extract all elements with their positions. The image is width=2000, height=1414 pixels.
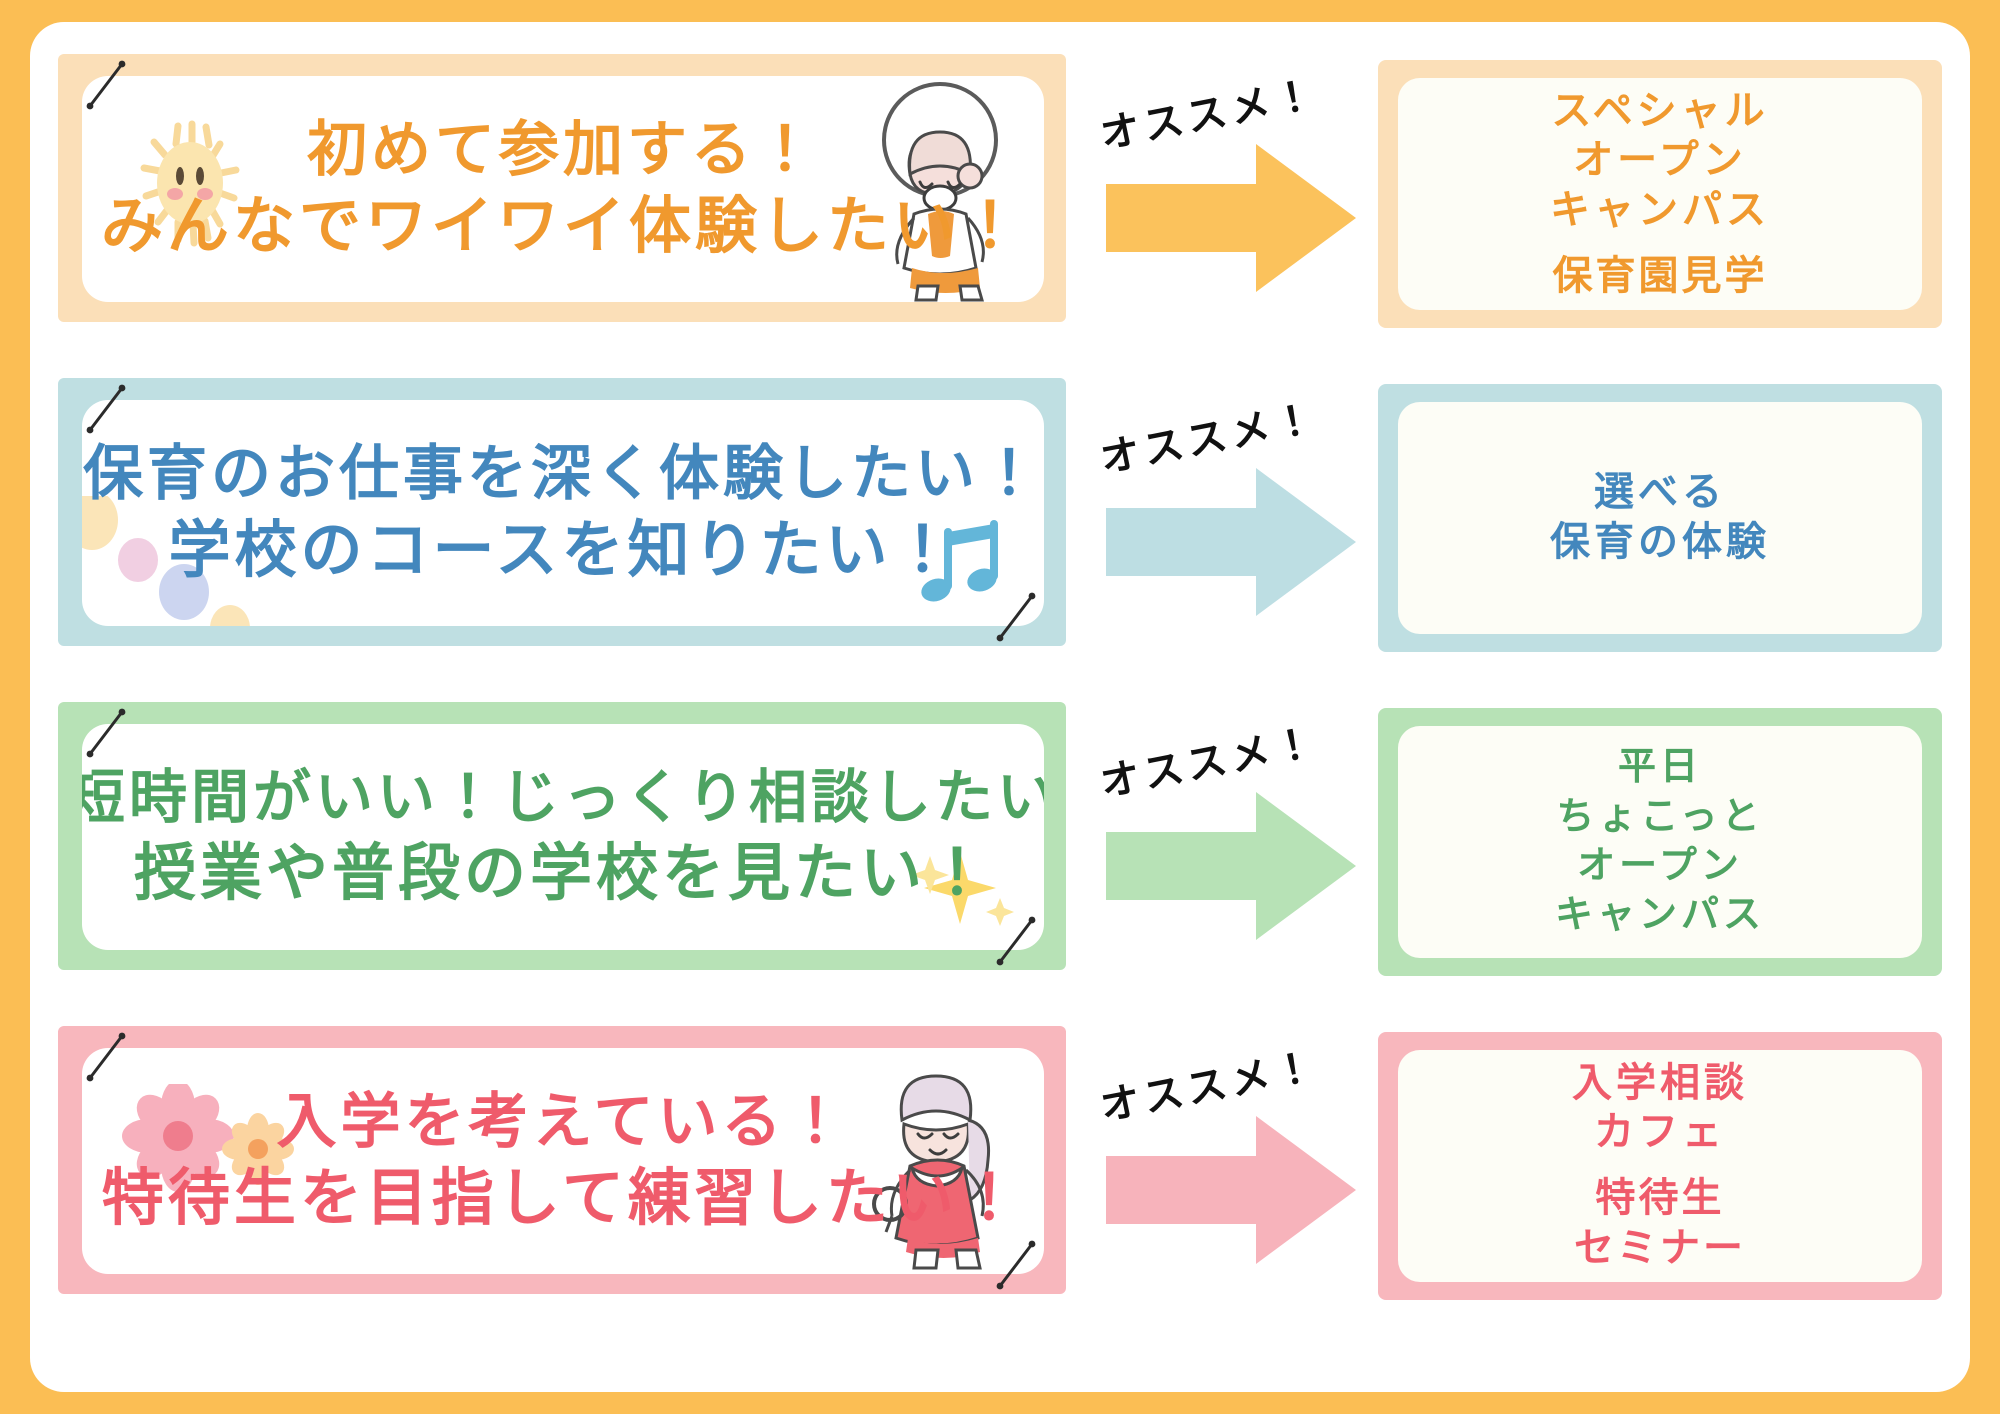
banner-card: 短時間がいい！じっくり相談したい 授業や普段の学校を見たい！ (82, 724, 1044, 950)
banner-text: 短時間がいい！じっくり相談したい 授業や普段の学校を見たい！ (82, 724, 1044, 950)
banner-card: 保育のお仕事を深く体験したい！ 学校のコースを知りたい！ (82, 400, 1044, 626)
result-card-special-open-campus[interactable]: スペシャル オープン キャンパス 保育園見学 (1378, 60, 1942, 328)
result-title: 入学相談 カフェ (1572, 1059, 1748, 1158)
row-grid: 初めて参加する！ みんなでワイワイ体験したい！ オススメ！ スペシャル オープン… (58, 42, 1942, 1372)
right-arrow-icon (1106, 144, 1356, 292)
poster-page: 初めて参加する！ みんなでワイワイ体験したい！ オススメ！ スペシャル オープン… (30, 22, 1970, 1392)
banner-line-1: 短時間がいい！じっくり相談したい (82, 764, 1044, 832)
result-subtitle: 保育園見学 (1553, 252, 1768, 302)
result-card-weekday-chokotto-open-campus[interactable]: 平日 ちょこっと オープン キャンパス (1378, 708, 1942, 976)
row-admission-consultation-cafe: 入学を考えている！ 特待生を目指して練習したい！ オススメ！ (58, 1026, 1942, 1336)
banner-card: 初めて参加する！ みんなでワイワイ体験したい！ (82, 76, 1044, 302)
banner-card: 入学を考えている！ 特待生を目指して練習したい！ (82, 1048, 1044, 1274)
banner-text: 入学を考えている！ 特待生を目指して練習したい！ (82, 1048, 1044, 1274)
banner-line-2: みんなでワイワイ体験したい！ (101, 190, 1025, 263)
row-selectable-childcare-experience: 保育のお仕事を深く体験したい！ 学校のコースを知りたい！ オススメ！ (58, 378, 1942, 688)
result-inner: スペシャル オープン キャンパス 保育園見学 (1398, 78, 1922, 310)
banner-line-1: 保育のお仕事を深く体験したい！ (83, 439, 1043, 510)
arrow-group: オススメ！ (1084, 708, 1374, 976)
result-title: 平日 ちょこっと オープン キャンパス (1555, 743, 1765, 941)
result-inner: 平日 ちょこっと オープン キャンパス (1398, 726, 1922, 958)
banner-panel: 短時間がいい！じっくり相談したい 授業や普段の学校を見たい！ (58, 702, 1066, 970)
banner-line-2: 特待生を目指して練習したい！ (102, 1162, 1024, 1235)
result-inner: 入学相談 カフェ 特待生 セミナー (1398, 1050, 1922, 1282)
banner-panel: 入学を考えている！ 特待生を目指して練習したい！ (58, 1026, 1066, 1294)
result-title: スペシャル オープン キャンパス (1550, 87, 1770, 236)
result-card-selectable-childcare-experience[interactable]: 選べる 保育の体験 (1378, 384, 1942, 652)
right-arrow-icon (1106, 468, 1356, 616)
right-arrow-icon (1106, 792, 1356, 940)
result-card-admission-consultation-cafe[interactable]: 入学相談 カフェ 特待生 セミナー (1378, 1032, 1942, 1300)
row-weekday-chokotto-open-campus: 短時間がいい！じっくり相談したい 授業や普段の学校を見たい！ オススメ！ (58, 702, 1942, 1012)
banner-line-1: 入学を考えている！ (277, 1087, 850, 1158)
banner-text: 保育のお仕事を深く体験したい！ 学校のコースを知りたい！ (82, 400, 1044, 626)
banner-line-2: 学校のコースを知りたい！ (169, 514, 958, 587)
right-arrow-icon (1106, 1116, 1356, 1264)
row-special-open-campus: 初めて参加する！ みんなでワイワイ体験したい！ オススメ！ スペシャル オープン… (58, 54, 1942, 364)
result-title: 選べる 保育の体験 (1550, 468, 1770, 567)
banner-text: 初めて参加する！ みんなでワイワイ体験したい！ (82, 76, 1044, 302)
banner-line-1: 初めて参加する！ (307, 115, 819, 186)
banner-panel: 初めて参加する！ みんなでワイワイ体験したい！ (58, 54, 1066, 322)
banner-panel: 保育のお仕事を深く体験したい！ 学校のコースを知りたい！ (58, 378, 1066, 646)
result-inner: 選べる 保育の体験 (1398, 402, 1922, 634)
arrow-group: オススメ！ (1084, 60, 1374, 328)
arrow-group: オススメ！ (1084, 1032, 1374, 1300)
result-subtitle: 特待生 セミナー (1574, 1174, 1746, 1273)
arrow-group: オススメ！ (1084, 384, 1374, 652)
banner-line-2: 授業や普段の学校を見たい！ (134, 837, 992, 910)
